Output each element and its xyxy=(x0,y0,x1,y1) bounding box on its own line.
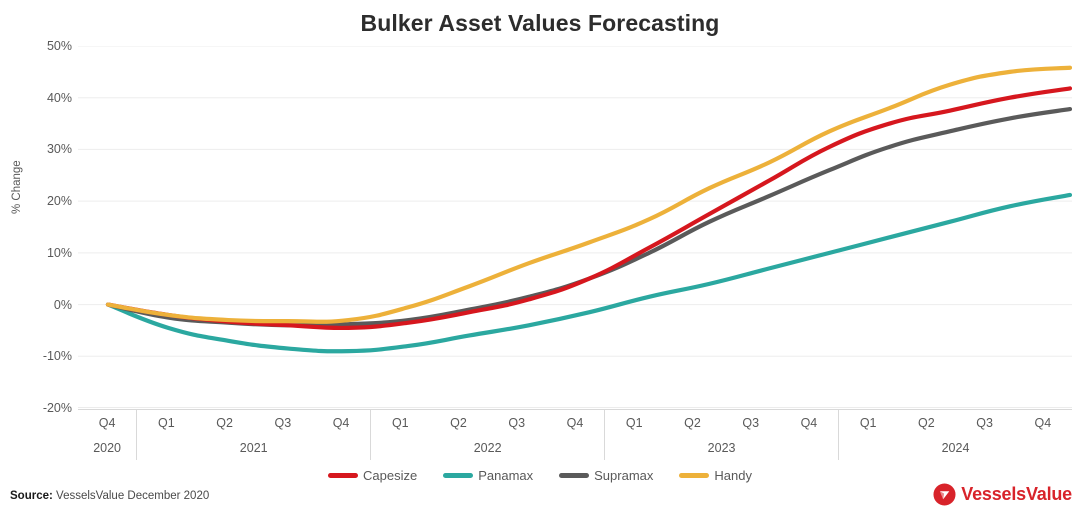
legend-swatch-icon xyxy=(328,473,358,478)
x-axis-year-label: 2022 xyxy=(371,435,604,460)
legend-label: Supramax xyxy=(594,468,653,483)
x-axis-quarter-row: Q1Q2Q3Q4 xyxy=(371,410,604,435)
x-axis-quarter-label: Q3 xyxy=(488,416,546,430)
x-axis-year-label: 2020 xyxy=(78,435,136,460)
x-axis-year-group: Q1Q2Q3Q42021 xyxy=(137,410,371,460)
x-axis-quarter-label: Q1 xyxy=(371,416,429,430)
x-axis-quarter-label: Q2 xyxy=(429,416,487,430)
x-axis-quarter-label: Q2 xyxy=(195,416,253,430)
source-text: VesselsValue December 2020 xyxy=(56,490,209,502)
source-note: Source: VesselsValue December 2020 xyxy=(10,490,209,502)
x-axis-quarter-label: Q3 xyxy=(722,416,780,430)
legend-swatch-icon xyxy=(679,473,709,478)
x-axis-quarter-row: Q1Q2Q3Q4 xyxy=(839,410,1072,435)
x-axis-quarter-row: Q1Q2Q3Q4 xyxy=(605,410,838,435)
x-axis-quarter-label: Q3 xyxy=(254,416,312,430)
y-axis-tick-labels: 50%40%30%20%10%0%-10%-20% xyxy=(0,0,72,511)
x-axis-quarter-label: Q4 xyxy=(1014,416,1072,430)
y-axis-tick: -10% xyxy=(8,349,72,363)
legend-label: Panamax xyxy=(478,468,533,483)
y-axis-tick: 30% xyxy=(8,142,72,156)
legend-item-supramax[interactable]: Supramax xyxy=(559,468,653,483)
x-axis-year-label: 2023 xyxy=(605,435,838,460)
x-axis-quarter-label: Q4 xyxy=(312,416,370,430)
x-axis-quarter-label: Q3 xyxy=(956,416,1014,430)
series-line-panamax xyxy=(108,195,1070,351)
x-axis-year-group: Q42020 xyxy=(78,410,137,460)
source-label: Source: xyxy=(10,490,53,502)
x-axis-year-group: Q1Q2Q3Q42022 xyxy=(371,410,605,460)
y-axis-tick: 20% xyxy=(8,194,72,208)
legend-label: Handy xyxy=(714,468,752,483)
x-axis-quarter-label: Q4 xyxy=(78,416,136,430)
x-axis: Q42020Q1Q2Q3Q42021Q1Q2Q3Q42022Q1Q2Q3Q420… xyxy=(78,409,1072,459)
y-axis-tick: 50% xyxy=(8,39,72,53)
chart-legend: CapesizePanamaxSupramaxHandy xyxy=(0,468,1080,483)
chart-page: Bulker Asset Values Forecasting % Change… xyxy=(0,0,1080,511)
page-title: Bulker Asset Values Forecasting xyxy=(0,10,1080,37)
x-axis-quarter-label: Q1 xyxy=(605,416,663,430)
series-line-capesize xyxy=(108,88,1070,328)
plot-area xyxy=(78,46,1072,408)
x-axis-year-label: 2024 xyxy=(839,435,1072,460)
legend-item-capesize[interactable]: Capesize xyxy=(328,468,417,483)
legend-item-handy[interactable]: Handy xyxy=(679,468,752,483)
legend-item-panamax[interactable]: Panamax xyxy=(443,468,533,483)
y-axis-tick: 0% xyxy=(8,298,72,312)
x-axis-quarter-label: Q4 xyxy=(546,416,604,430)
vesselsvalue-logo-text: VesselsValue xyxy=(961,484,1072,505)
x-axis-quarter-label: Q1 xyxy=(137,416,195,430)
x-axis-year-group: Q1Q2Q3Q42024 xyxy=(839,410,1072,460)
x-axis-quarter-row: Q4 xyxy=(78,410,136,435)
x-axis-quarter-label: Q1 xyxy=(839,416,897,430)
x-axis-year-group: Q1Q2Q3Q42023 xyxy=(605,410,839,460)
legend-swatch-icon xyxy=(443,473,473,478)
y-axis-tick: 40% xyxy=(8,91,72,105)
line-chart-svg xyxy=(78,46,1072,408)
x-axis-quarter-label: Q4 xyxy=(780,416,838,430)
x-axis-year-label: 2021 xyxy=(137,435,370,460)
series-line-supramax xyxy=(108,109,1070,325)
vesselsvalue-logo-icon xyxy=(933,483,956,506)
x-axis-quarter-label: Q2 xyxy=(897,416,955,430)
series-line-handy xyxy=(108,68,1070,322)
vesselsvalue-logo: VesselsValue xyxy=(933,483,1072,506)
legend-swatch-icon xyxy=(559,473,589,478)
x-axis-quarter-row: Q1Q2Q3Q4 xyxy=(137,410,370,435)
legend-label: Capesize xyxy=(363,468,417,483)
y-axis-tick: -20% xyxy=(8,401,72,415)
x-axis-quarter-label: Q2 xyxy=(663,416,721,430)
y-axis-tick: 10% xyxy=(8,246,72,260)
